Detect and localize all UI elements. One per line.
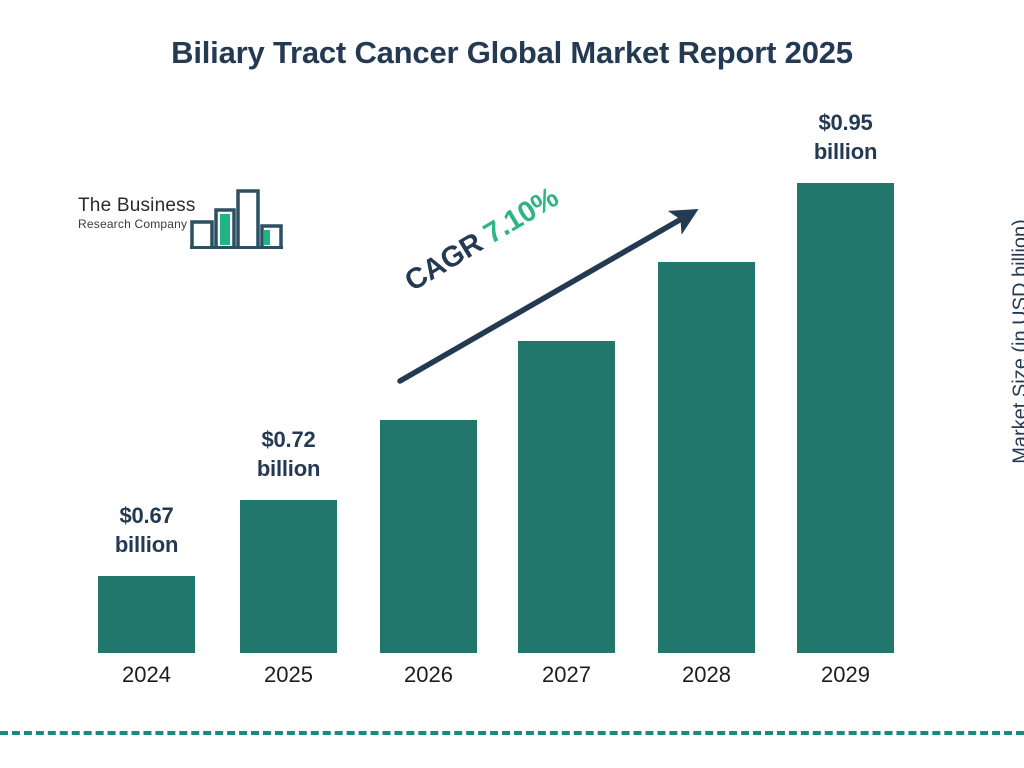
chart-canvas: Biliary Tract Cancer Global Market Repor… (0, 0, 1024, 768)
bar-value-amount-2029: $0.95 (769, 109, 922, 138)
bar-value-unit-2024: billion (70, 531, 223, 560)
bar-chart-plot-area: 202420252026202720282029 $0.67billion$0.… (0, 0, 1024, 768)
x-tick-2029: 2029 (772, 662, 919, 688)
bar-value-amount-2025: $0.72 (212, 426, 365, 455)
x-tick-2027: 2027 (493, 662, 640, 688)
bar-2029 (797, 183, 894, 653)
bar-2027 (518, 341, 615, 653)
y-axis-title: Market Size (in USD billion) (1010, 182, 1024, 502)
bar-value-label-2029: $0.95billion (769, 109, 922, 166)
bar-value-amount-2024: $0.67 (70, 502, 223, 531)
bar-value-label-2024: $0.67billion (70, 502, 223, 559)
bar-2025 (240, 500, 337, 653)
bar-2028 (658, 262, 755, 653)
footer-dashed-rule (0, 731, 1024, 735)
x-tick-2028: 2028 (633, 662, 780, 688)
x-tick-2026: 2026 (355, 662, 502, 688)
bar-value-label-2025: $0.72billion (212, 426, 365, 483)
x-tick-2025: 2025 (215, 662, 362, 688)
bar-value-unit-2029: billion (769, 138, 922, 167)
bar-value-unit-2025: billion (212, 455, 365, 484)
bar-2024 (98, 576, 195, 653)
x-tick-2024: 2024 (73, 662, 220, 688)
bar-2026 (380, 420, 477, 653)
